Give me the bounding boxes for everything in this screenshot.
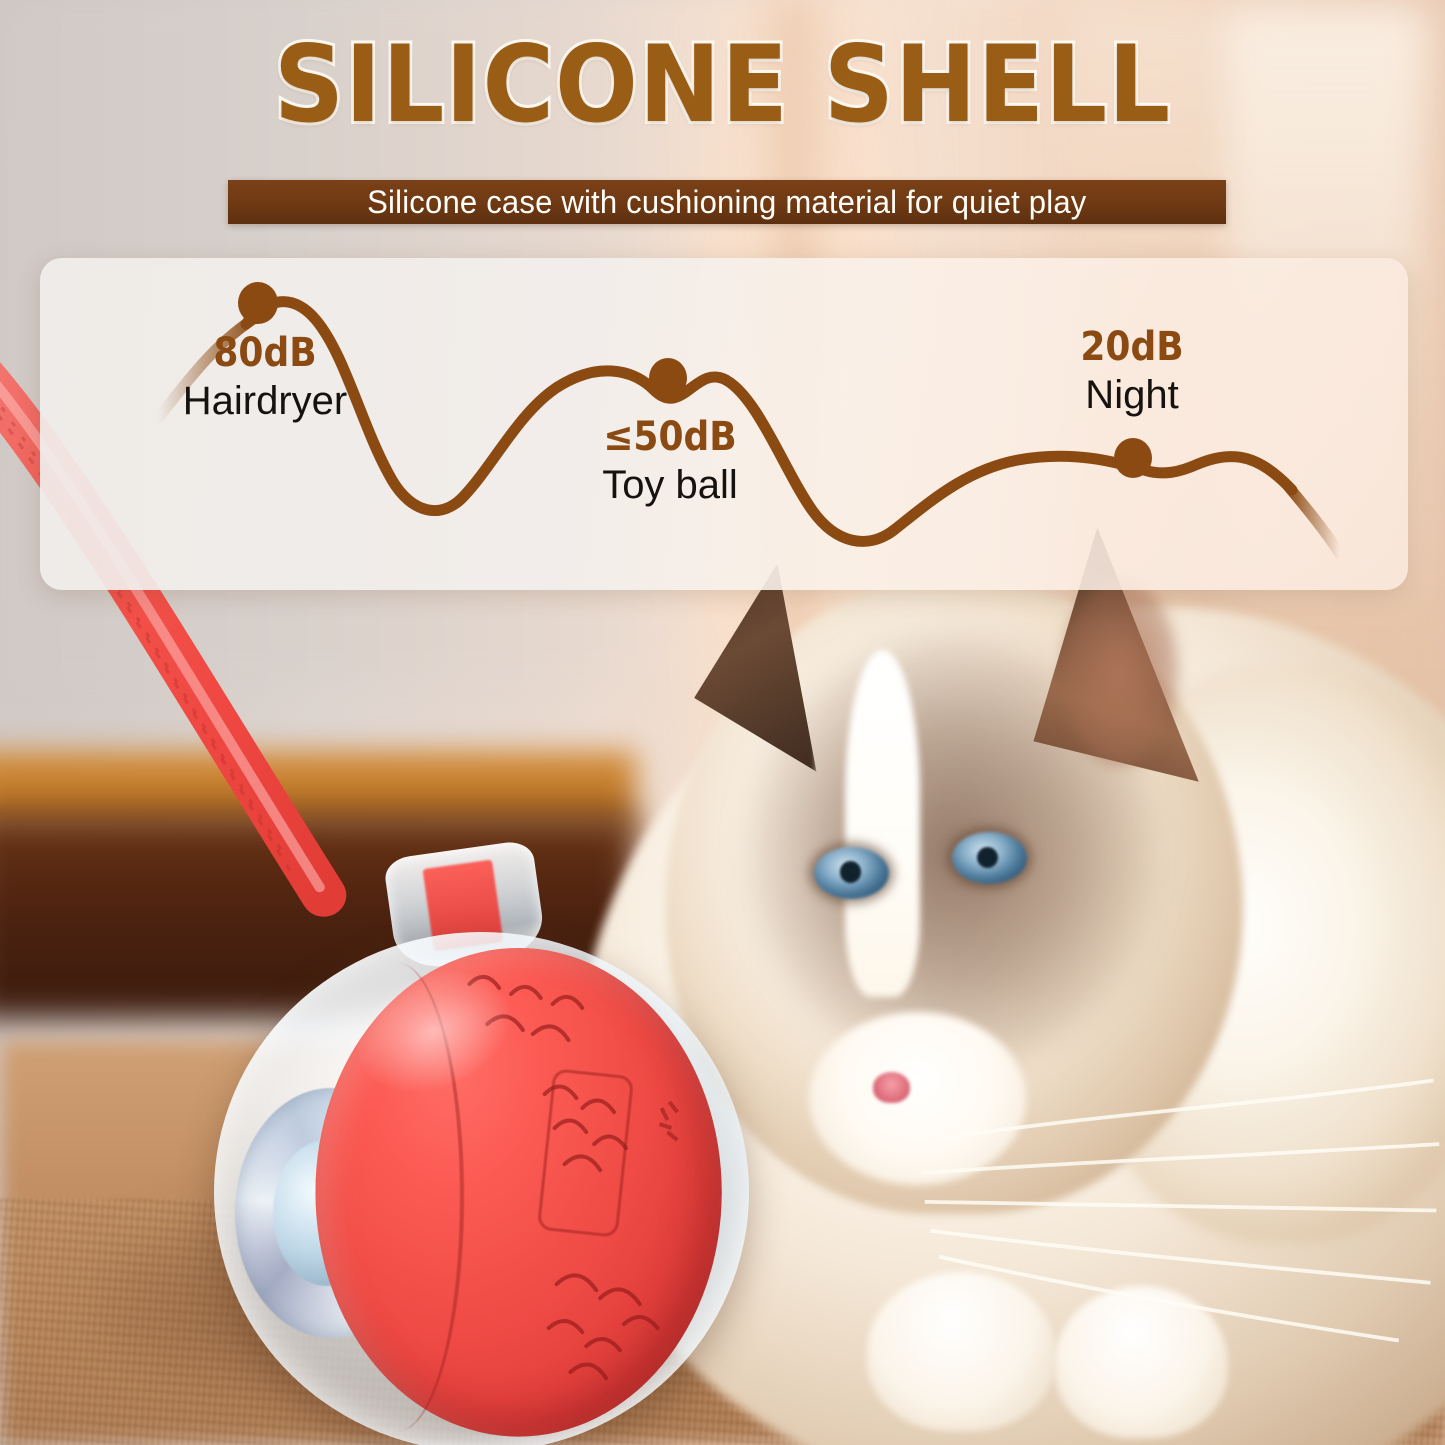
- sound-wave-chart: [40, 258, 1408, 590]
- subtitle-banner: Silicone case with cushioning material f…: [228, 180, 1226, 224]
- chart-marker-night: [1114, 438, 1152, 478]
- noise-comparison-panel: 80dB Hairdryer ≤50dB Toy ball 20dB Night: [40, 258, 1408, 590]
- cat-whiskers: [867, 1040, 1445, 1358]
- cat-toy-ball: [214, 932, 749, 1445]
- cat-pupil-left: [840, 861, 862, 883]
- chart-marker-hairdryer: [238, 282, 278, 324]
- product-marketing-image: SILICONE SHELL Silicone case with cushio…: [0, 0, 1445, 1445]
- subtitle-text: Silicone case with cushioning material f…: [367, 184, 1086, 221]
- cat-face-blaze: [845, 650, 920, 997]
- cat-ear-right-inner: [1062, 578, 1178, 766]
- page-title: SILICONE SHELL: [58, 28, 1387, 142]
- chart-marker-toyball: [649, 358, 687, 398]
